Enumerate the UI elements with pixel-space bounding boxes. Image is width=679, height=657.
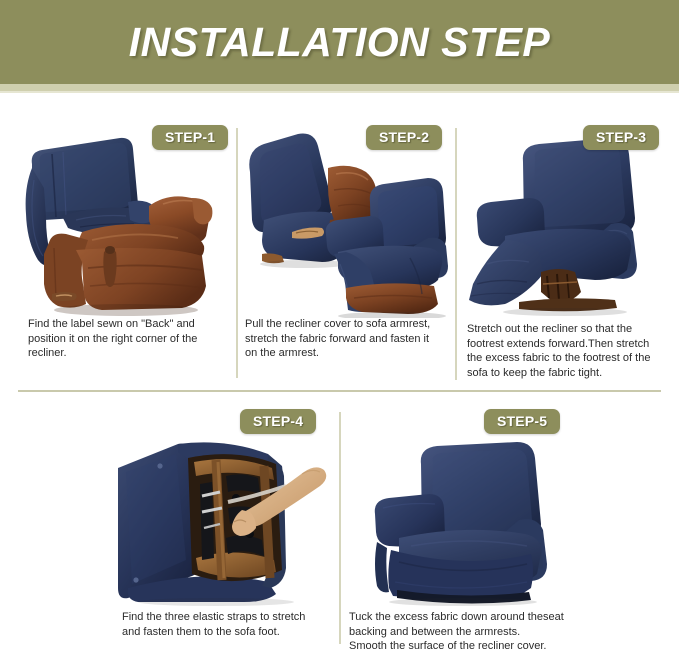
badge-step-5: STEP-5	[484, 409, 560, 434]
caption-step-5-line-1: Tuck the excess fabric down around these…	[349, 610, 564, 625]
illustration-step-4	[116, 438, 338, 606]
caption-step-2: Pull the recliner cover to sofa armrest,…	[245, 317, 430, 361]
panel-step-2: STEP-2	[238, 110, 455, 390]
caption-step-1: Find the label sewn on "Back" and positi…	[28, 317, 197, 361]
infographic-page: INSTALLATION STEP STEP-1	[0, 0, 679, 657]
caption-step-2-line-3: on the armrest.	[245, 346, 430, 361]
badge-step-1: STEP-1	[152, 125, 228, 150]
badge-step-4: STEP-4	[240, 409, 316, 434]
divider-horizontal	[18, 390, 661, 392]
page-title: INSTALLATION STEP	[129, 19, 551, 66]
header-accent-band-2	[0, 91, 679, 93]
caption-step-3: Stretch out the recliner so that the foo…	[467, 322, 650, 380]
panel-step-3: STEP-3	[457, 110, 679, 390]
illustration-step-3	[465, 132, 675, 317]
badge-step-2: STEP-2	[366, 125, 442, 150]
caption-step-2-line-1: Pull the recliner cover to sofa armrest,	[245, 317, 430, 332]
panel-step-5: STEP-5	[341, 400, 679, 657]
illustration-step-2	[242, 128, 454, 318]
caption-step-5-line-3: Smooth the surface of the recliner cover…	[349, 639, 564, 654]
panel-step-4: STEP-4	[0, 400, 339, 657]
caption-step-5-line-2: backing and between the armrests.	[349, 625, 564, 640]
caption-step-1-line-1: Find the label sewn on "Back" and	[28, 317, 197, 332]
header-accent-band	[0, 84, 679, 91]
caption-step-3-line-1: Stretch out the recliner so that the	[467, 322, 650, 337]
caption-step-4-line-1: Find the three elastic straps to stretch	[122, 610, 305, 625]
caption-step-1-line-3: recliner.	[28, 346, 197, 361]
caption-step-3-line-2: footrest extends forward.Then stretch	[467, 337, 650, 352]
caption-step-1-line-2: position it on the right corner of the	[28, 332, 197, 347]
badge-step-3: STEP-3	[583, 125, 659, 150]
caption-step-2-line-2: stretch the fabric forward and fasten it	[245, 332, 430, 347]
panel-step-1: STEP-1	[0, 110, 236, 390]
caption-step-4: Find the three elastic straps to stretch…	[122, 610, 305, 639]
illustration-step-5	[359, 438, 599, 606]
caption-step-5: Tuck the excess fabric down around these…	[349, 610, 564, 654]
header-bar: INSTALLATION STEP	[0, 0, 679, 84]
caption-step-3-line-4: sofa to keep the fabric tight.	[467, 366, 650, 381]
caption-step-3-line-3: the excess fabric to the footrest of the	[467, 351, 650, 366]
caption-step-4-line-2: and fasten them to the sofa foot.	[122, 625, 305, 640]
illustration-step-1	[16, 128, 231, 318]
